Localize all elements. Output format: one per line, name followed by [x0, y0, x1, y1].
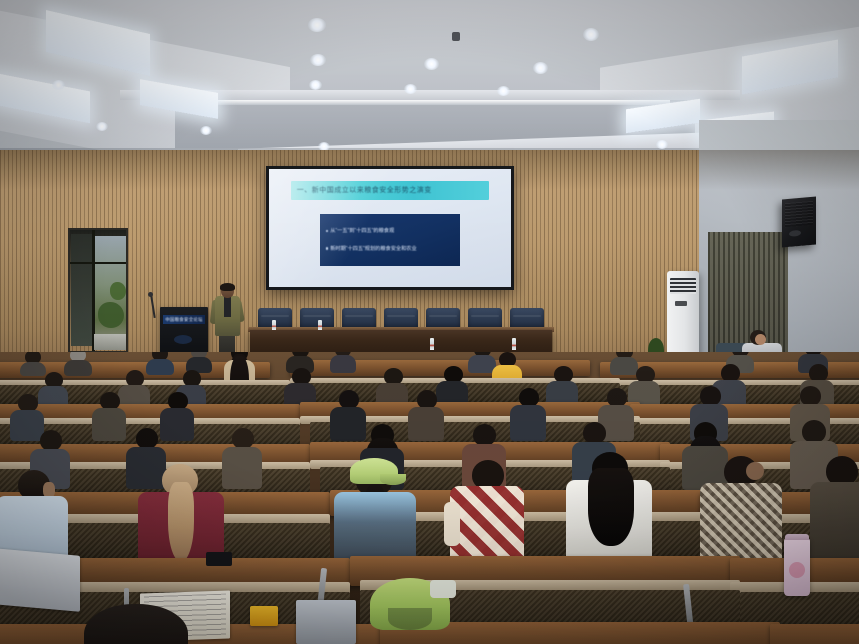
downlight-6: [309, 80, 322, 90]
cap-back-opening: [388, 608, 432, 630]
phone-device[interactable]: [206, 552, 232, 566]
pencil-case-1[interactable]: [250, 606, 278, 626]
long-braid: [168, 482, 194, 562]
slide-bullet-1-text: 从“一五”到“十四五”的粮食观: [330, 227, 394, 234]
attendee-row4-c: [222, 428, 262, 488]
long-black-hair: [588, 468, 634, 546]
water-bottle-1: [272, 320, 276, 330]
downlight-8: [497, 86, 510, 96]
ac-vent-icon: [670, 278, 696, 294]
door-glass-panel: [71, 234, 93, 346]
presenter: [210, 284, 244, 362]
lecture-hall-photo: 一、新中国成立以来粮食安全形势之演变 从“一五”到“十四五”的粮食观 新时期“十…: [0, 0, 859, 644]
attendee-row1-b: [64, 352, 92, 374]
presenter-hair: [220, 283, 235, 291]
presenter-shirt: [224, 297, 231, 317]
floor-standing-air-conditioner[interactable]: [667, 271, 699, 362]
cap-brim-icon: [380, 474, 406, 485]
head: [700, 386, 721, 406]
downlight-3: [310, 54, 326, 66]
bullet-dot-icon: [326, 230, 328, 232]
torso: [330, 355, 356, 373]
head: [84, 604, 188, 644]
water-bottle-2: [318, 320, 322, 330]
slide-bullet-2-text: 新时期“十四五”规划的粮食安全和农业: [330, 245, 416, 252]
torso: [146, 359, 174, 375]
downlight-11: [200, 126, 212, 135]
downlight-5: [533, 62, 548, 74]
student-foreground-left: [84, 604, 188, 644]
projection-screen-frame: 一、新中国成立以来粮食安全形势之演变 从“一五”到“十四五”的粮食观 新时期“十…: [266, 166, 514, 290]
ac-logo: [675, 301, 687, 306]
open-doorway[interactable]: [68, 228, 128, 353]
tablet-device-left[interactable]: [0, 548, 80, 612]
attendee-face: [755, 334, 766, 345]
slide-bullet-2: 新时期“十四五”规划的粮食安全和农业: [326, 245, 454, 252]
slide-body-box: 从“一五”到“十四五”的粮食观 新时期“十四五”规划的粮食安全和农业: [320, 214, 460, 266]
head: [583, 422, 606, 444]
slide-title-banner: 一、新中国成立以来粮食安全形势之演变: [291, 181, 489, 200]
door-mullion-horizontal: [70, 262, 128, 264]
sleeve: [444, 502, 460, 546]
attendee-row3-f: [510, 388, 546, 440]
microphone-icon: [148, 292, 153, 297]
tablet-device-center[interactable]: [296, 600, 356, 644]
lectern-emblem: [174, 335, 192, 344]
attendee-row1-f: [330, 352, 356, 372]
lectern-band-text: 中国粮食安全论坛: [165, 317, 203, 323]
slide-bullet-1: 从“一五”到“十四五”的粮食观: [326, 227, 454, 234]
torso: [92, 408, 126, 441]
downlight-4: [424, 58, 439, 70]
torso: [222, 447, 262, 489]
downlight-2: [583, 28, 599, 41]
student-green-cap-front: [362, 578, 458, 644]
outdoor-foliage: [98, 302, 124, 328]
thermos-bottle[interactable]: [784, 538, 810, 596]
attendee-row1-c: [146, 352, 174, 374]
speaker-driver-icon: [789, 230, 801, 237]
water-bottle-4: [512, 338, 516, 350]
attendee-row1-d: [186, 352, 212, 372]
slide-title-text: 一、新中国成立以来粮食安全形势之演变: [291, 185, 432, 195]
doorway-floor: [94, 334, 128, 350]
water-bottle-3: [430, 338, 434, 350]
thermos-floral-decal: [789, 562, 805, 578]
downlight-10: [96, 122, 108, 131]
torso: [408, 407, 444, 441]
head: [473, 424, 496, 446]
attendee-row3-e: [408, 390, 444, 440]
cap-strap: [430, 580, 456, 598]
head: [136, 428, 158, 449]
head: [40, 430, 62, 451]
projection-screen: 一、新中国成立以来粮食安全形势之演变 从“一五”到“十四五”的粮食观 新时期“十…: [269, 169, 511, 287]
face-profile: [746, 462, 764, 480]
ceiling-projector-icon: [452, 32, 460, 41]
downlight-7: [404, 84, 417, 94]
head: [232, 428, 254, 449]
thermos-lid-icon: [785, 534, 809, 540]
cove-light-strip: [200, 100, 670, 105]
bullet-dot-icon: [326, 247, 328, 249]
downlight-1: [308, 18, 326, 32]
torso: [510, 405, 546, 441]
torso: [64, 360, 92, 376]
head: [800, 386, 821, 406]
speaker-grille-icon: [785, 201, 813, 227]
outdoor-foliage-2: [110, 282, 126, 300]
desk-row7-right: [770, 624, 859, 644]
lectern: 中国粮食安全论坛: [160, 307, 208, 355]
audience-seating: [0, 352, 859, 644]
head: [802, 420, 826, 443]
wall-mounted-loudspeaker: [782, 197, 816, 248]
lectern-name-band: 中国粮食安全论坛: [163, 315, 205, 324]
attendee-row3-b: [92, 392, 126, 440]
downlight-13: [656, 140, 668, 149]
student-row5-far-right: [810, 456, 859, 574]
attendee-row1-a: [20, 352, 46, 374]
downlight-9: [52, 80, 65, 90]
